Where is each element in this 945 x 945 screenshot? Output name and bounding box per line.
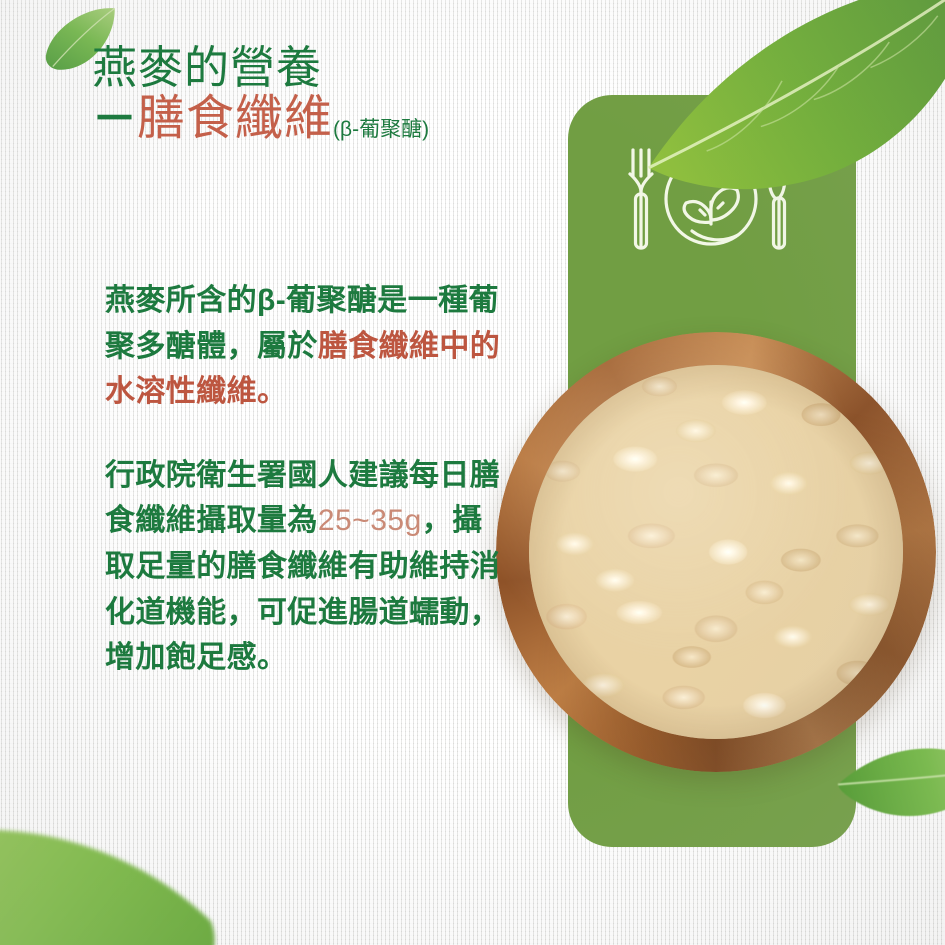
paragraph-beta-glucan-definition: 燕麥所含的β-葡聚醣是一種葡聚多醣體，屬於膳食纖維中的水溶性纖維。 xyxy=(105,278,505,415)
title-dash: － xyxy=(92,93,137,144)
knife-icon xyxy=(769,150,785,248)
page-title-line-1: 燕麥的營養 xyxy=(92,44,562,92)
paragraph-daily-intake-recommendation: 行政院衛生署國人建議每日膳食纖維攝取量為25~35g，攝取足量的膳食纖維有助維持… xyxy=(105,453,505,681)
daily-intake-amount: 25~35g xyxy=(318,504,422,537)
body-copy-block: 燕麥所含的β-葡聚醣是一種葡聚多醣體，屬於膳食纖維中的水溶性纖維。 行政院衛生署… xyxy=(105,248,505,711)
title-accent-text: 膳食纖維 xyxy=(137,92,333,145)
oat-bowl-image xyxy=(496,332,936,772)
infographic-poster: 燕麥的營養 －膳食纖維(β-葡聚醣) 燕麥所含的β-葡聚醣是一種葡聚多醣體，屬於… xyxy=(0,0,945,945)
fork-plate-leaf-knife-icon xyxy=(625,140,797,260)
plate-icon xyxy=(666,154,756,244)
oats-shading xyxy=(529,365,904,740)
fork-icon xyxy=(630,150,652,248)
page-title-line-2: －膳食纖維(β-葡聚醣) xyxy=(92,94,562,145)
bowl-interior xyxy=(529,365,904,740)
leaf-bottom-left-icon xyxy=(0,720,241,945)
plate-leaves-icon xyxy=(684,188,738,224)
headline-block: 燕麥的營養 －膳食纖維(β-葡聚醣) xyxy=(92,44,562,145)
paragraph1-period: 。 xyxy=(257,375,287,408)
title-subscript-formula: (β-葡聚醣) xyxy=(333,118,429,141)
